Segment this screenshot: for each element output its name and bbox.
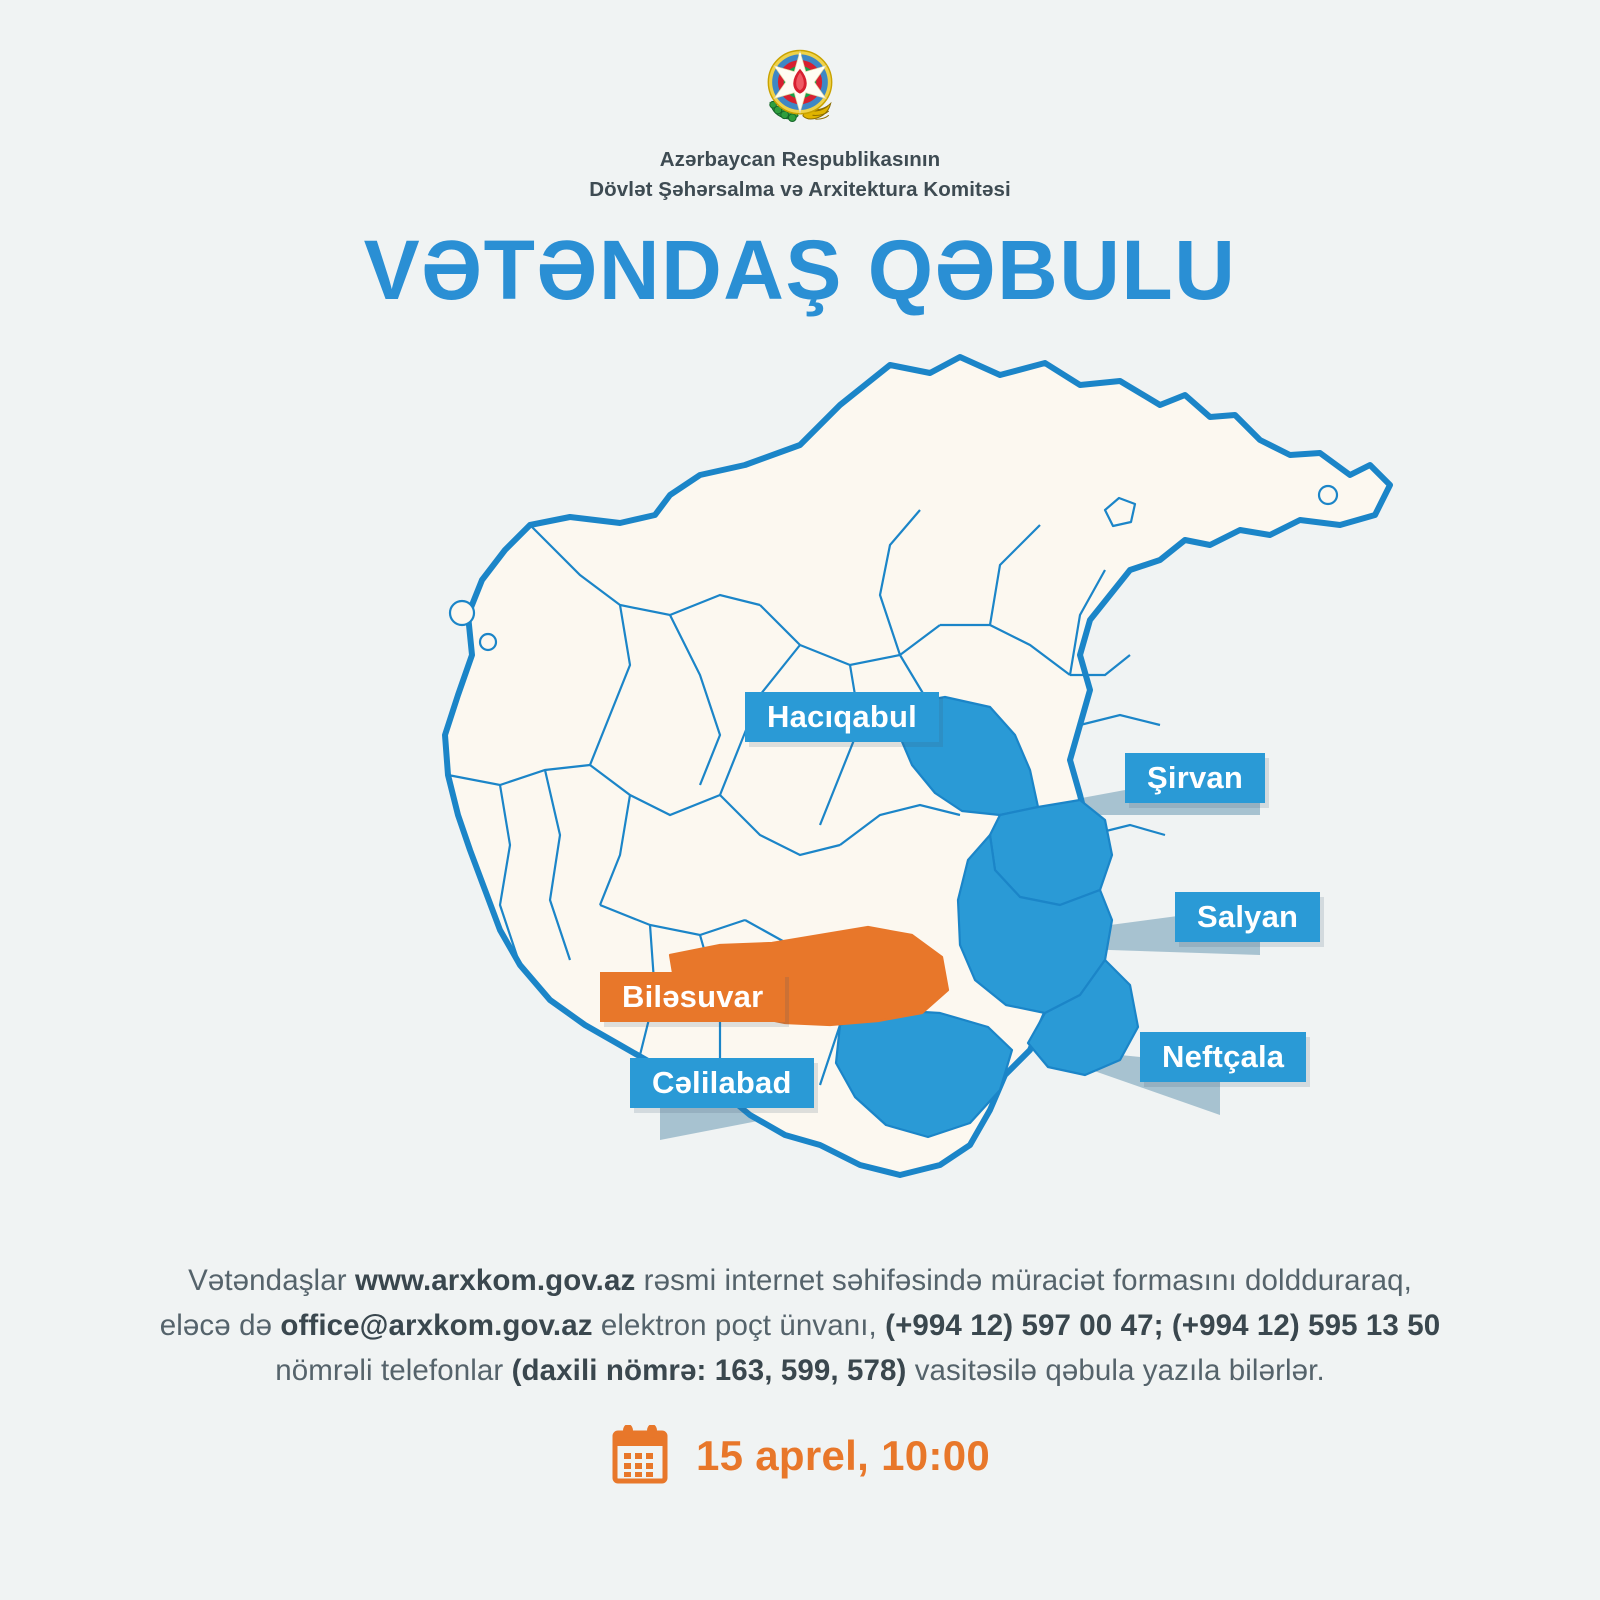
organization-line-1: Azərbaycan Respublikasının [0, 145, 1600, 175]
contact-paragraph: Vətəndaşlar www.arxkom.gov.az rəsmi inte… [80, 1258, 1520, 1393]
map-label-neftcala-text: Neftçala [1162, 1039, 1284, 1075]
organization-line-2: Dövlət Şəhərsalma və Arxitektura Komitəs… [0, 175, 1600, 205]
map-label-salyan-text: Salyan [1197, 899, 1298, 935]
organization-name: Azərbaycan Respublikasının Dövlət Şəhərs… [0, 145, 1600, 205]
contact-line-2-mid: elektron poçt ünvanı, [593, 1309, 886, 1342]
map-label-haciqabul[interactable]: Hacıqabul [745, 692, 939, 742]
map-label-neftcala[interactable]: Neftçala [1140, 1032, 1306, 1082]
website-link[interactable]: www.arxkom.gov.az [355, 1264, 635, 1297]
contact-line-1-post: rəsmi internet səhifəsində müraciət form… [635, 1264, 1412, 1297]
event-date-row: 15 aprel, 10:00 [0, 1425, 1600, 1487]
page-title: VƏTƏNDAŞ QƏBULU [0, 228, 1600, 312]
emblem-container [0, 38, 1600, 134]
map-label-salyan[interactable]: Salyan [1175, 892, 1320, 942]
map-label-haciqabul-text: Hacıqabul [767, 699, 917, 735]
contact-line-1-pre: Vətəndaşlar [188, 1264, 355, 1297]
contact-line-3-post: vasitəsilə qəbula yazıla bilərlər. [906, 1354, 1324, 1387]
map-label-bilesuvar[interactable]: Biləsuvar [600, 972, 785, 1022]
event-date-text: 15 aprel, 10:00 [696, 1432, 990, 1480]
contact-line-3: nömrəli telefonlar (daxili nömrə: 163, 5… [80, 1348, 1520, 1393]
contact-line-2: eləcə də office@arxkom.gov.az elektron p… [80, 1303, 1520, 1348]
contact-line-3-pre: nömrəli telefonlar [275, 1354, 511, 1387]
map-label-celilabad-text: Cəlilabad [652, 1065, 792, 1101]
extension-numbers: (daxili nömrə: 163, 599, 578) [512, 1354, 907, 1387]
map-label-celilabad[interactable]: Cəlilabad [630, 1058, 814, 1108]
azerbaijan-state-emblem-icon [752, 38, 848, 134]
calendar-icon [610, 1425, 670, 1487]
map-label-sirvan-text: Şirvan [1147, 760, 1243, 796]
phone-numbers: (+994 12) 597 00 47; (+994 12) 595 13 50 [885, 1309, 1440, 1342]
poster-root: Azərbaycan Respublikasının Dövlət Şəhərs… [0, 0, 1600, 1600]
contact-line-1: Vətəndaşlar www.arxkom.gov.az rəsmi inte… [80, 1258, 1520, 1303]
map-label-sirvan[interactable]: Şirvan [1125, 753, 1265, 803]
map-label-bilesuvar-text: Biləsuvar [622, 979, 763, 1015]
email-link[interactable]: office@arxkom.gov.az [280, 1309, 592, 1342]
contact-line-2-pre: eləcə də [160, 1309, 281, 1342]
